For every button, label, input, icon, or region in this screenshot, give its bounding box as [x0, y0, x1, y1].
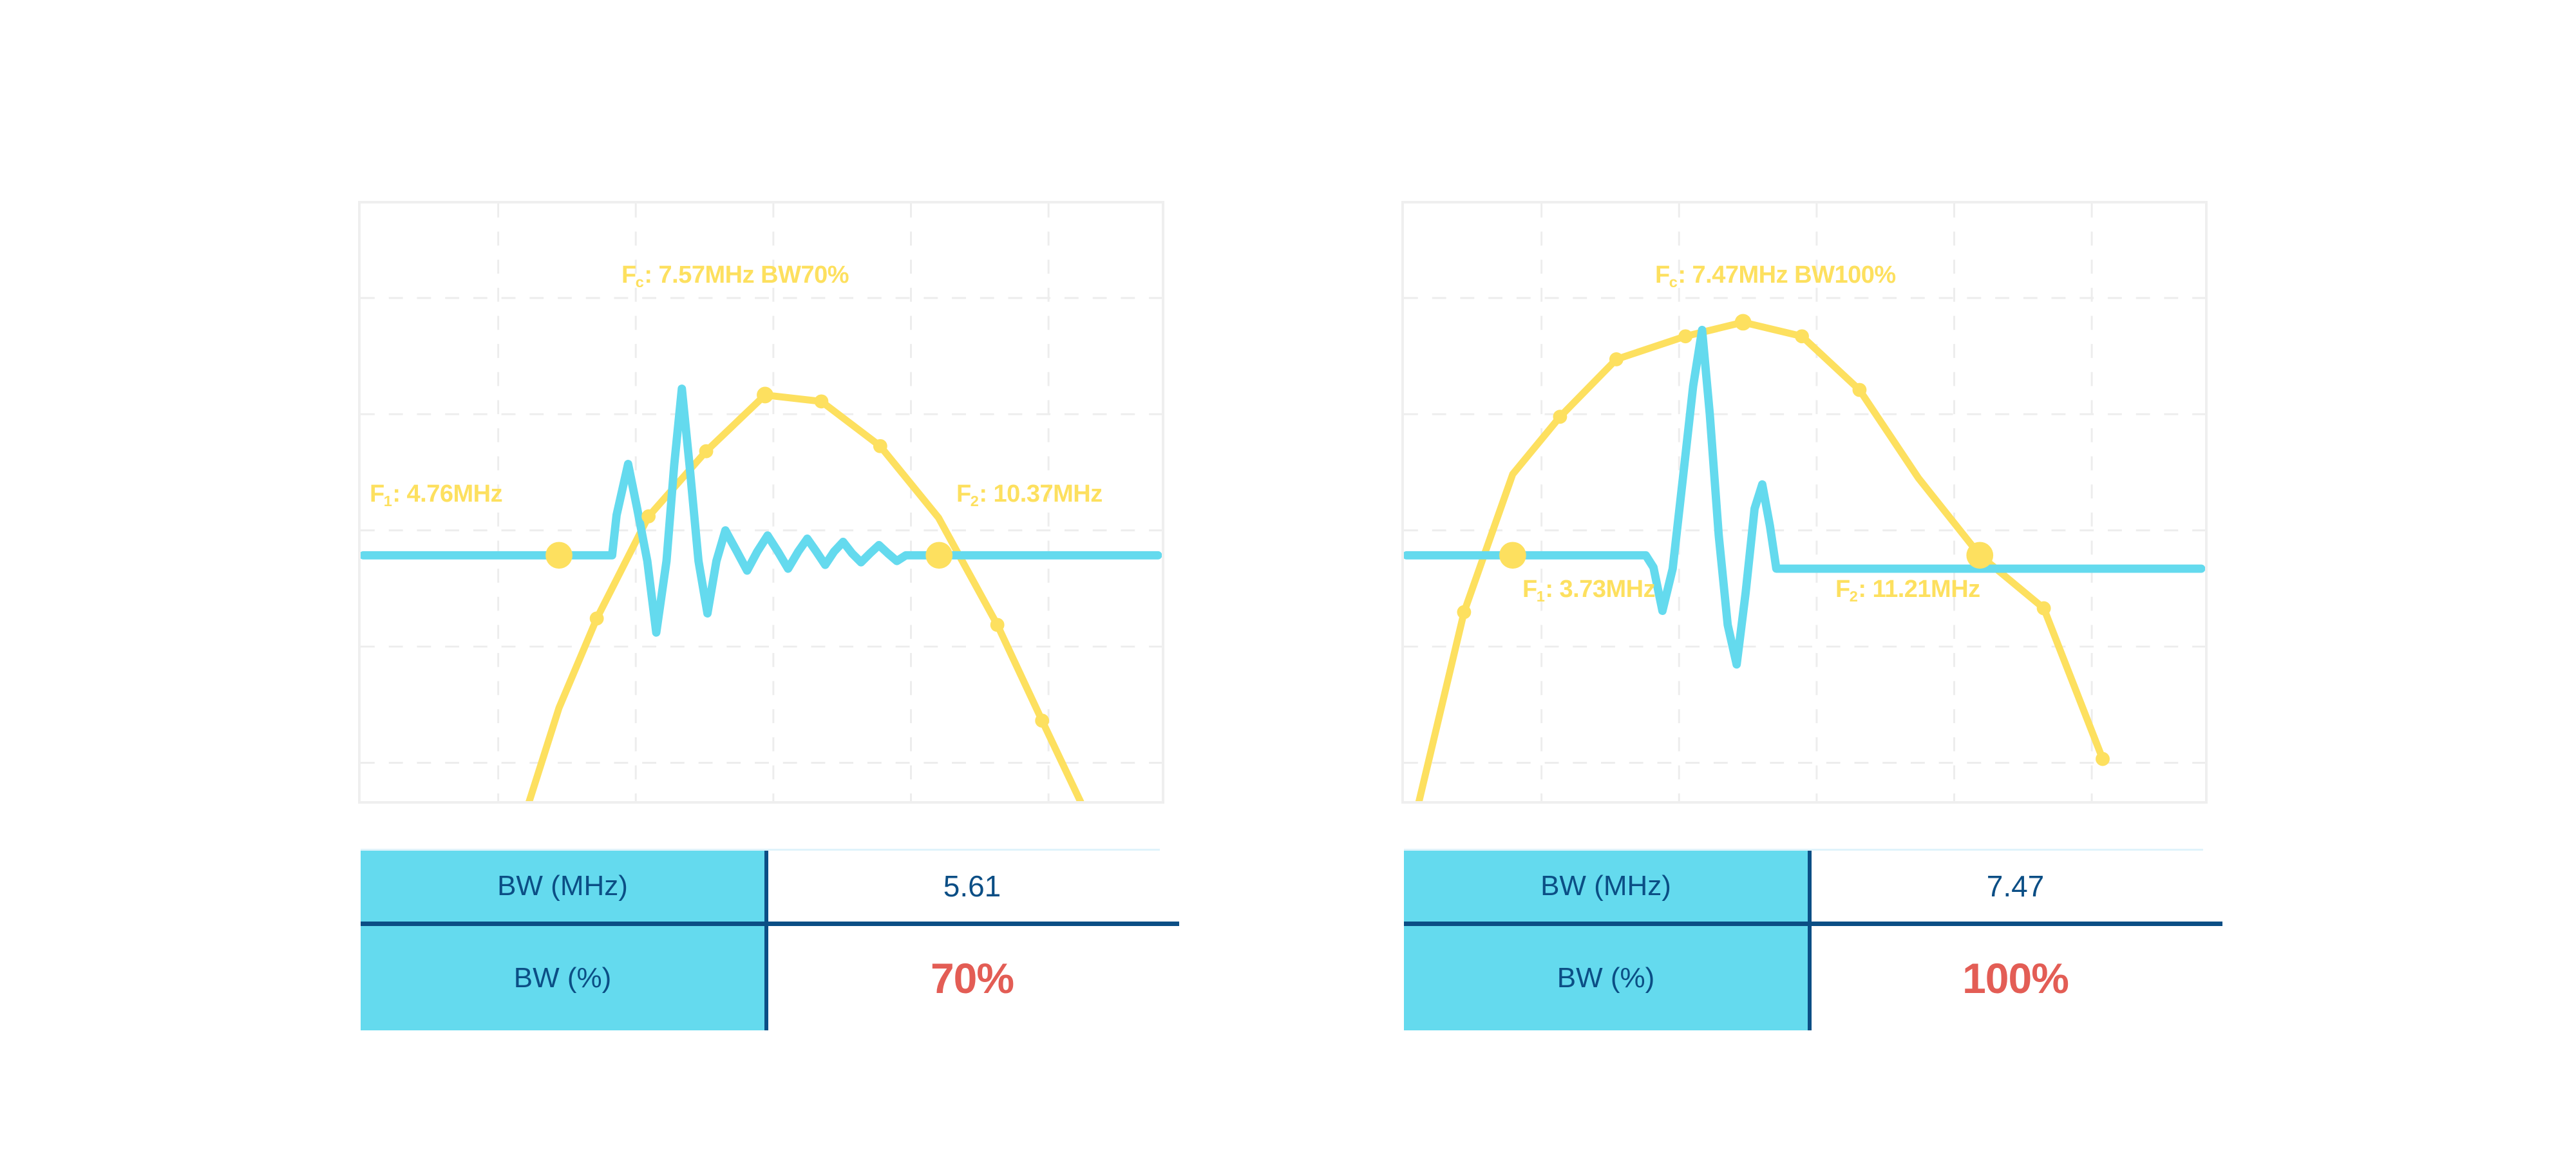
table-value-text: 7.47 [1987, 869, 2045, 903]
pulse-waveform [1406, 330, 2201, 665]
marker-f2 [1966, 542, 1993, 569]
marker-f1 [1499, 542, 1526, 569]
table-row-label-bw-mhz: BW (MHz) [361, 851, 764, 922]
spectrum-markers [1457, 314, 2109, 766]
table-row-label-bw-pct: BW (%) [1404, 926, 1808, 1030]
table-label-text: BW (MHz) [497, 870, 628, 902]
table-column-divider [1808, 851, 1812, 1030]
table-row-label-bw-mhz: BW (MHz) [1404, 851, 1808, 922]
table-value-text: 5.61 [943, 869, 1001, 903]
table-row-value-bw-mhz: 5.61 [768, 851, 1176, 922]
table-row-label-bw-pct: BW (%) [361, 926, 764, 1030]
table-label-text: BW (%) [514, 962, 612, 994]
table-row-value-bw-pct: 70% [768, 926, 1176, 1030]
bw-table-bw100: BW (MHz) 7.47 BW (%) 100% [1404, 849, 2222, 1032]
pulse-waveform [363, 389, 1158, 633]
figure-canvas: Fc: 7.57MHz BW70% F1: 4.76MHz F2: 10.37M… [0, 0, 2576, 1154]
chart-frame-bw100: Fc: 7.47MHz BW100% F1: 3.73MHz F2: 11.21… [1401, 201, 2208, 804]
table-label-text: BW (MHz) [1540, 870, 1671, 902]
spectrum-chart-bw100 [1404, 203, 2205, 801]
label-f2-bw70: F2: 10.37MHz [956, 482, 1103, 506]
spectrum-curve [524, 395, 1087, 801]
label-center-frequency-bw70: Fc: 7.57MHz BW70% [621, 263, 849, 287]
label-f1-bw100: F1: 3.73MHz [1522, 577, 1655, 601]
chart-frame-bw70: Fc: 7.57MHz BW70% F1: 4.76MHz F2: 10.37M… [358, 201, 1164, 804]
table-value-text: 100% [1962, 954, 2069, 1003]
table-mid-rule [1404, 922, 2222, 926]
label-f2-bw100: F2: 11.21MHz [1835, 577, 1980, 601]
table-row-value-bw-mhz: 7.47 [1812, 851, 2219, 922]
bw-table-bw70: BW (MHz) 5.61 BW (%) 70% [361, 849, 1179, 1032]
marker-f1 [545, 542, 573, 569]
table-mid-rule [361, 922, 1179, 926]
table-label-text: BW (%) [1557, 962, 1655, 994]
table-column-divider [764, 851, 768, 1030]
label-f1-bw70: F1: 4.76MHz [370, 482, 502, 506]
label-center-frequency-bw100: Fc: 7.47MHz BW100% [1655, 263, 1896, 287]
panel-bw100: Fc: 7.47MHz BW100% F1: 3.73MHz F2: 11.21… [1378, 0, 2215, 1154]
panel-bw70: Fc: 7.57MHz BW70% F1: 4.76MHz F2: 10.37M… [335, 0, 1172, 1154]
table-row-value-bw-pct: 100% [1812, 926, 2219, 1030]
marker-f2 [925, 542, 952, 569]
table-value-text: 70% [931, 954, 1014, 1003]
